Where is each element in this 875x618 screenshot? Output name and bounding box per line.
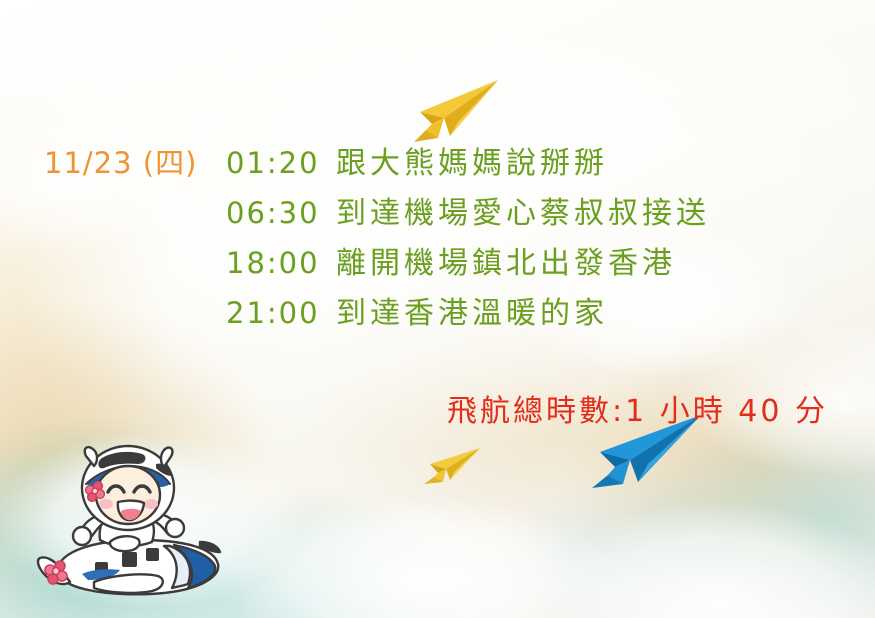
itinerary-row-4: 21:00 到達香港溫暖的家 — [44, 288, 844, 338]
itinerary-description: 跟大熊媽媽說掰掰 — [336, 138, 608, 182]
itinerary-list: 11/23 (四) 01:20 跟大熊媽媽說掰掰 06:30 到達機場愛心蔡叔叔… — [44, 138, 844, 338]
itinerary-description: 到達機場愛心蔡叔叔接送 — [336, 188, 710, 232]
itinerary-row-1: 11/23 (四) 01:20 跟大熊媽媽說掰掰 — [44, 138, 844, 188]
itinerary-time: 21:00 — [226, 296, 336, 330]
itinerary-row-3: 18:00 離開機場鎮北出發香港 — [44, 238, 844, 288]
itinerary-time: 01:20 — [226, 146, 336, 180]
yellow-paper-plane-small-icon — [414, 444, 482, 486]
total-flight-time: 飛航總時數:1 小時 40 分 — [447, 386, 828, 430]
itinerary-description: 到達香港溫暖的家 — [336, 288, 608, 332]
itinerary-card: 11/23 (四) 01:20 跟大熊媽媽說掰掰 06:30 到達機場愛心蔡叔叔… — [0, 0, 875, 618]
mascot-pilot-airplane — [24, 442, 234, 618]
itinerary-time: 18:00 — [226, 246, 336, 280]
itinerary-row-2: 06:30 到達機場愛心蔡叔叔接送 — [44, 188, 844, 238]
itinerary-date: 11/23 (四) — [44, 146, 197, 180]
itinerary-description: 離開機場鎮北出發香港 — [336, 238, 676, 282]
itinerary-time: 06:30 — [226, 196, 336, 230]
itinerary-date-cell: 11/23 (四) — [44, 140, 226, 182]
yellow-paper-plane-icon — [392, 78, 500, 144]
